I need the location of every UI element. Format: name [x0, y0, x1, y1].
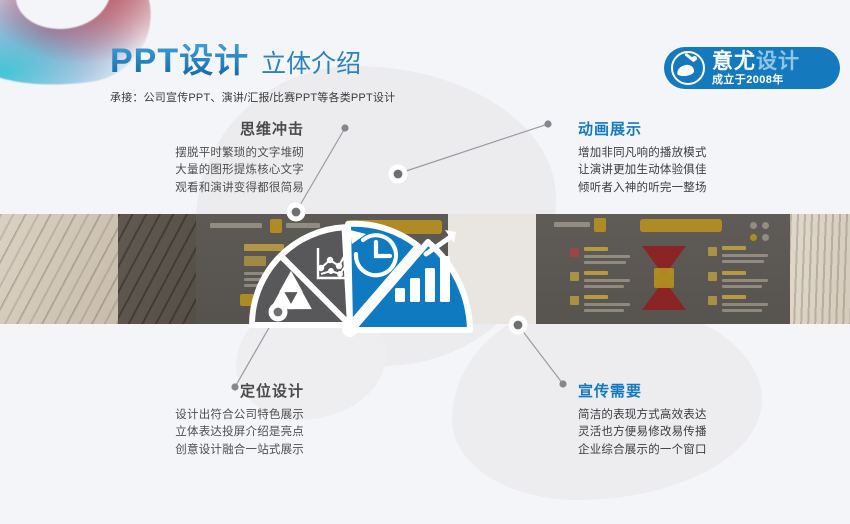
- callout-line: 企业综合展示的一个窗口: [578, 442, 810, 459]
- callout-line: 大量的图形提炼核心文字: [72, 162, 304, 179]
- slide-preview-right: [536, 214, 832, 324]
- page-header: PPT设计 立体介绍 承接：公司宣传PPT、演讲/汇报/比赛PPT等各类PPT设…: [110, 44, 395, 105]
- brand-logo[interactable]: 意尤设计 成立于2008年: [664, 47, 840, 89]
- callout-line: 观看和演讲变得都很简易: [72, 180, 304, 197]
- callout-title: 动画展示: [578, 118, 810, 139]
- brand-established: 成立于2008年: [712, 75, 800, 86]
- callout-dong-hua-zhan-shi: 动画展示 增加非同凡响的播放模式 让演讲更加生动体验俱佳 倾听者入神的听完一整场: [578, 118, 810, 197]
- callout-ding-wei-she-ji: 定位设计 设计出符合公司特色展示 立体表达投屏介绍是亮点 创意设计融合一站式展示: [72, 380, 304, 459]
- callout-si-wei-chong-ji: 思维冲击 摆脱平时繁琐的文字堆砌 大量的图形提炼核心文字 观看和演讲变得都很简易: [72, 118, 304, 197]
- page-title: PPT设计: [110, 44, 249, 78]
- callout-line: 创意设计融合一站式展示: [72, 442, 304, 459]
- callout-line: 让演讲更加生动体验俱佳: [578, 162, 810, 179]
- callout-line: 倾听者入神的听完一整场: [578, 180, 810, 197]
- callout-line: 摆脱平时繁琐的文字堆砌: [72, 145, 304, 162]
- page-description: 承接：公司宣传PPT、演讲/汇报/比赛PPT等各类PPT设计: [110, 89, 395, 105]
- callout-line: 灵活也方便易修改易传播: [578, 424, 810, 441]
- building-texture-right: [790, 214, 850, 324]
- callout-xuan-chuan-xu-yao: 宣传需要 简洁的表现方式高效表达 灵活也方便易修改易传播 企业综合展示的一个窗口: [578, 380, 810, 459]
- brand-name: 意尤设计: [712, 51, 800, 72]
- callout-title: 定位设计: [72, 380, 304, 401]
- callout-title: 宣传需要: [578, 380, 810, 401]
- slide-canvas: PPT设计 立体介绍 承接：公司宣传PPT、演讲/汇报/比赛PPT等各类PPT设…: [0, 0, 850, 524]
- callout-line: 设计出符合公司特色展示: [72, 407, 304, 424]
- brand-name-strong: 意尤: [712, 50, 756, 73]
- page-subtitle: 立体介绍: [261, 52, 361, 77]
- callout-title: 思维冲击: [72, 118, 304, 139]
- callout-line: 简洁的表现方式高效表达: [578, 407, 810, 424]
- callout-line: 增加非同凡响的播放模式: [578, 145, 810, 162]
- rocket-circle-icon: [671, 51, 705, 85]
- callout-line: 立体表达投屏介绍是亮点: [72, 424, 304, 441]
- brand-name-light: 设计: [756, 50, 800, 73]
